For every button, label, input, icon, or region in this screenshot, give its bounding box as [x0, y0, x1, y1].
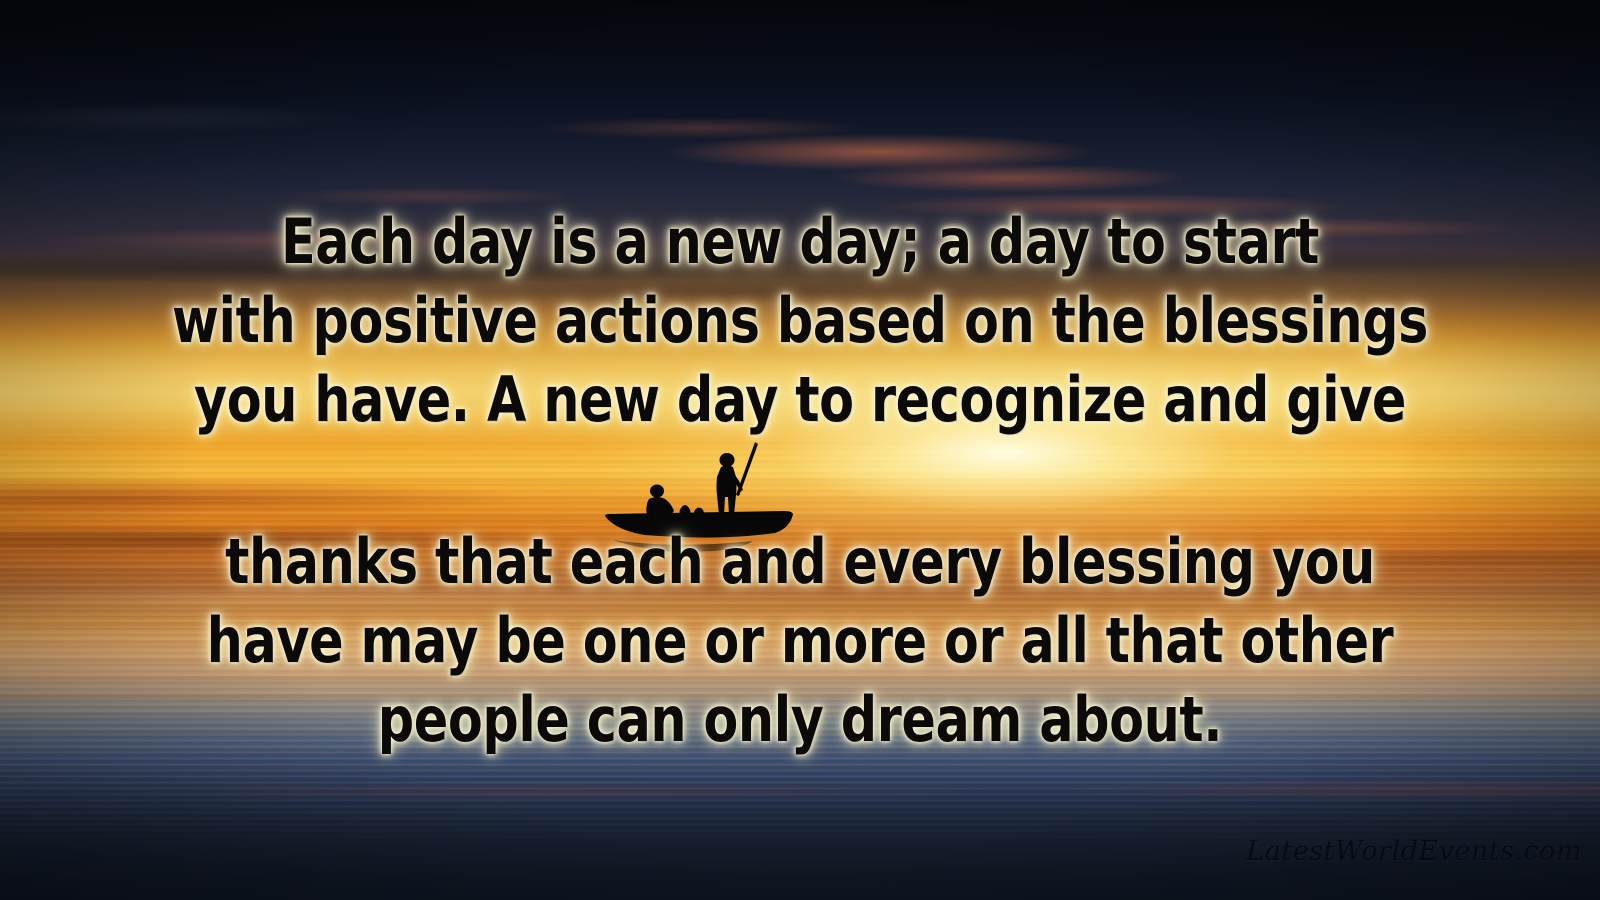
quote-image-canvas: Each day is a new day; a day to start wi… [0, 0, 1600, 900]
quote-line-1: Each day is a new day; a day to start [144, 205, 1456, 278]
boat-reflection [613, 540, 753, 552]
seated-passenger [646, 485, 674, 517]
fishing-boat-silhouette [595, 432, 810, 552]
standing-boatman-with-pole [717, 453, 744, 515]
quote-line-6: people can only dream about. [144, 683, 1456, 756]
quote-line-3: you have. A new day to recognize and giv… [144, 363, 1456, 436]
quote-line-5: have may be one or more or all that othe… [144, 604, 1456, 677]
site-watermark: LatestWorldEvents.com [1246, 836, 1582, 867]
quote-line-2: with positive actions based on the bless… [144, 284, 1456, 357]
